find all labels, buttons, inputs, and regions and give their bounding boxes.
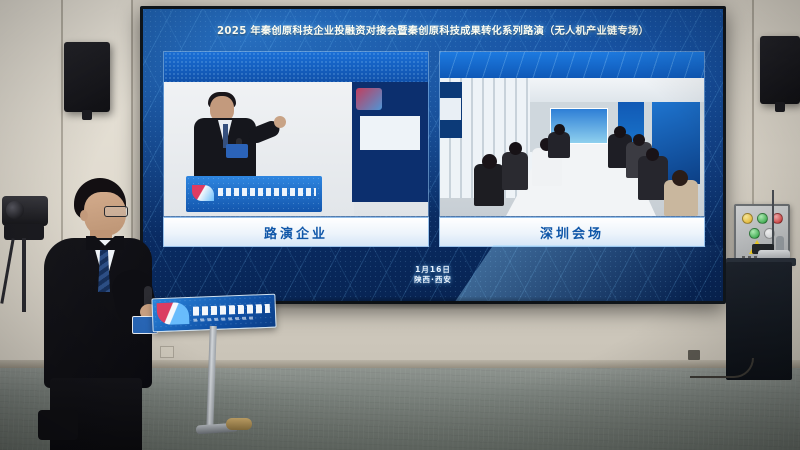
podium-logo-icon bbox=[192, 185, 214, 201]
remote-speaker-mic-flag bbox=[226, 144, 248, 158]
participant bbox=[474, 164, 504, 206]
wall-speaker-left bbox=[64, 42, 110, 112]
participant-head bbox=[509, 142, 522, 155]
wall-speaker-right bbox=[760, 36, 800, 104]
participant bbox=[502, 152, 528, 190]
event-title: 2025 年秦创原科技企业投融资对接会暨秦创原科技成果转化系列路演（无人机产业链… bbox=[143, 22, 723, 37]
participant-head bbox=[633, 134, 645, 146]
floor-bag bbox=[38, 410, 78, 440]
side-screen-content bbox=[360, 116, 420, 150]
presenter-ear bbox=[80, 210, 88, 221]
pane-left-side-screen bbox=[352, 82, 428, 202]
pane-label-right-text: 深圳会场 bbox=[540, 223, 604, 242]
participant-head bbox=[614, 126, 626, 138]
event-date: 1月16日 bbox=[143, 265, 723, 275]
power-cable bbox=[690, 358, 754, 378]
indicator-light-yellow bbox=[742, 213, 753, 224]
participant-head bbox=[554, 124, 565, 135]
pane-right-canopy bbox=[440, 52, 704, 80]
led-video-wall: 2025 年秦创原科技企业投融资对接会暨秦创原科技成果转化系列路演（无人机产业链… bbox=[140, 6, 726, 304]
glasses-icon bbox=[104, 206, 128, 217]
remote-speaker-hand bbox=[274, 116, 286, 128]
video-pane-right[interactable] bbox=[439, 51, 705, 217]
pane-label-left: 路演企业 bbox=[163, 217, 429, 247]
participant bbox=[548, 132, 570, 158]
video-pane-left[interactable] bbox=[163, 51, 429, 217]
event-footer: 1月16日 陕西·西安 bbox=[143, 265, 723, 285]
participant-head bbox=[646, 148, 659, 161]
pane-left-canopy bbox=[164, 52, 428, 84]
organization-logo-icon bbox=[157, 302, 190, 325]
podium-banner-text bbox=[218, 188, 316, 196]
indicator-light-green bbox=[749, 228, 760, 239]
sign-stand-weight bbox=[226, 418, 252, 430]
camera-lens-icon bbox=[6, 201, 24, 219]
participant-head bbox=[482, 154, 497, 169]
wall-outlet-icon bbox=[160, 346, 174, 358]
indicator-light-green bbox=[757, 213, 768, 224]
pane-right-ceiling bbox=[530, 78, 704, 104]
pane-label-left-text: 路演企业 bbox=[264, 223, 328, 242]
podium-banner bbox=[186, 176, 322, 212]
pane-label-right: 深圳会场 bbox=[439, 217, 705, 247]
pane-right-monitor bbox=[439, 82, 462, 138]
screenshot-root: 2025 年秦创原科技企业投融资对接会暨秦创原科技成果转化系列路演（无人机产业链… bbox=[0, 0, 800, 450]
side-screen-logo-icon bbox=[356, 88, 382, 110]
presenter bbox=[36, 178, 158, 450]
participant-head bbox=[672, 170, 688, 186]
event-location: 陕西·西安 bbox=[143, 275, 723, 285]
tripod-leg bbox=[22, 238, 26, 312]
